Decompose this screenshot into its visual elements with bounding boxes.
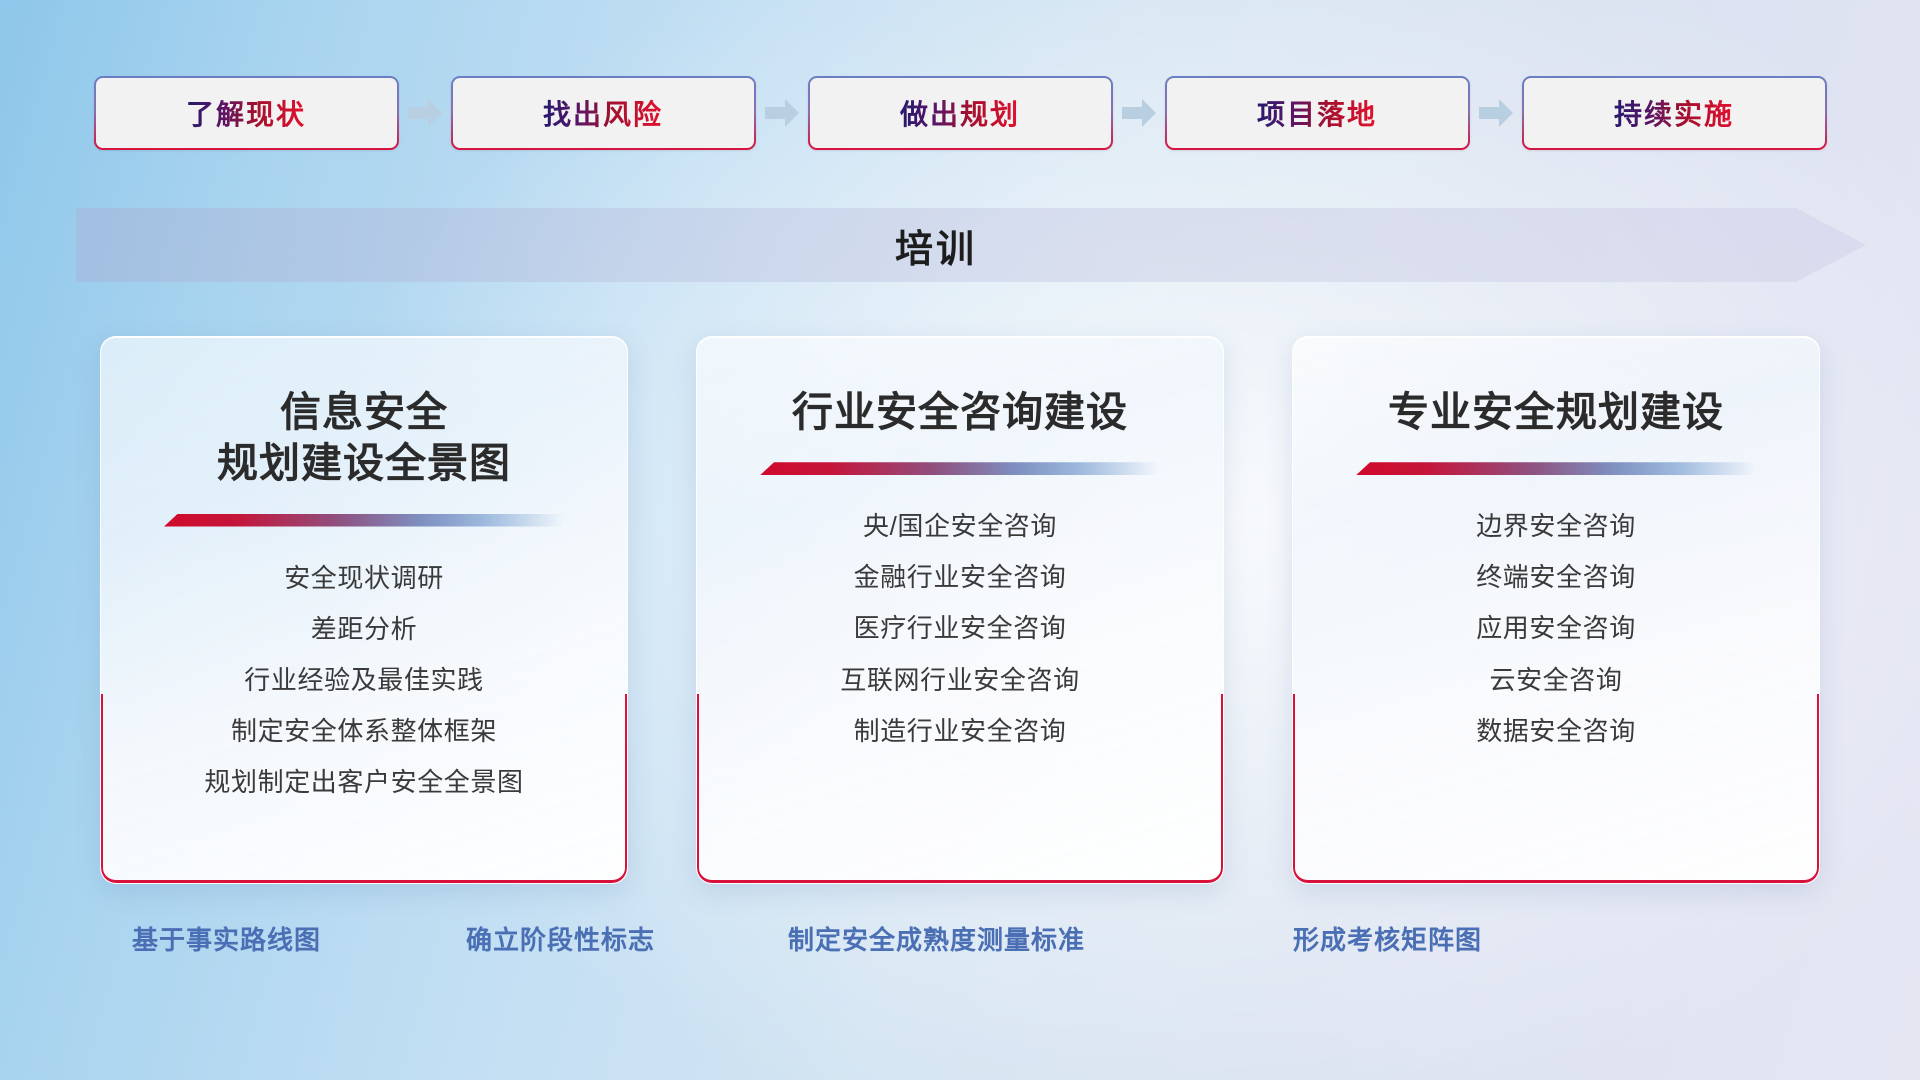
- list-item: 数据安全咨询: [1476, 710, 1636, 752]
- list-item: 终端安全咨询: [1476, 556, 1636, 598]
- list-item: 制定安全体系整体框架: [231, 710, 497, 752]
- list-item: 制造行业安全咨询: [854, 710, 1067, 752]
- process-step-1[interactable]: 找出风险: [451, 76, 756, 150]
- list-item: 边界安全咨询: [1476, 505, 1636, 547]
- service-card-items: 安全现状调研 差距分析 行业经验及最佳实践 制定安全体系整体框架 规划制定出客户…: [101, 557, 627, 804]
- service-card-accent-line: [1356, 462, 1756, 475]
- process-step-label: 了解现状: [186, 93, 306, 133]
- outcome-caption-2: 制定安全成熟度测量标准: [788, 920, 1085, 957]
- arrow-right-icon: [1113, 76, 1165, 150]
- list-item: 央/国企安全咨询: [863, 505, 1057, 547]
- process-step-label: 项目落地: [1257, 93, 1377, 133]
- arrow-right-icon: [399, 76, 451, 150]
- process-step-label: 持续实施: [1614, 93, 1734, 133]
- process-step-label: 找出风险: [543, 93, 663, 133]
- process-step-3[interactable]: 项目落地: [1165, 76, 1470, 150]
- service-card-title-line1: 行业安全咨询建设: [792, 387, 1128, 438]
- service-card-2[interactable]: 专业安全规划建设 边界安全咨询 终端安全咨询 应用安全咨询 云安全咨询 数据安全…: [1292, 336, 1820, 884]
- service-card-items: 央/国企安全咨询 金融行业安全咨询 医疗行业安全咨询 互联网行业安全咨询 制造行…: [697, 505, 1223, 752]
- process-step-inner: 做出规划: [810, 78, 1111, 148]
- outcome-caption-0: 基于事实路线图: [132, 920, 321, 957]
- arrow-right-icon: [1470, 76, 1522, 150]
- arrow-right-icon: [756, 76, 808, 150]
- list-item: 安全现状调研: [284, 557, 444, 599]
- outcome-caption-1: 确立阶段性标志: [466, 920, 655, 957]
- service-card-items: 边界安全咨询 终端安全咨询 应用安全咨询 云安全咨询 数据安全咨询: [1293, 505, 1819, 752]
- process-step-inner: 找出风险: [453, 78, 754, 148]
- list-item: 应用安全咨询: [1476, 607, 1636, 649]
- list-item: 互联网行业安全咨询: [840, 659, 1079, 701]
- service-card-title: 专业安全规划建设: [1366, 387, 1746, 438]
- service-card-accent-line: [164, 514, 564, 527]
- service-card-title: 行业安全咨询建设: [770, 387, 1150, 438]
- process-step-0[interactable]: 了解现状: [94, 76, 399, 150]
- service-card-0[interactable]: 信息安全 规划建设全景图 安全现状调研 差距分析 行业经验及最佳实践 制定安全体…: [100, 336, 628, 884]
- list-item: 差距分析: [311, 608, 417, 650]
- training-banner: 培训: [76, 208, 1866, 282]
- outcome-caption-list: 基于事实路线图 确立阶段性标志 制定安全成熟度测量标准 形成考核矩阵图: [0, 920, 1920, 974]
- process-step-4[interactable]: 持续实施: [1522, 76, 1827, 150]
- list-item: 金融行业安全咨询: [854, 556, 1067, 598]
- service-card-accent-line: [760, 462, 1160, 475]
- outcome-caption-3: 形成考核矩阵图: [1293, 920, 1482, 957]
- service-card-title-line1: 信息安全: [217, 387, 511, 438]
- process-step-flow: 了解现状 找出风险 做出规划 项目落地: [0, 74, 1920, 152]
- list-item: 医疗行业安全咨询: [854, 607, 1067, 649]
- process-step-2[interactable]: 做出规划: [808, 76, 1113, 150]
- list-item: 行业经验及最佳实践: [244, 659, 483, 701]
- list-item: 规划制定出客户安全全景图: [204, 761, 523, 803]
- service-card-1[interactable]: 行业安全咨询建设 央/国企安全咨询 金融行业安全咨询 医疗行业安全咨询 互联网行…: [696, 336, 1224, 884]
- process-step-inner: 项目落地: [1167, 78, 1468, 148]
- training-banner-title: 培训: [76, 208, 1796, 282]
- list-item: 云安全咨询: [1489, 659, 1622, 701]
- process-step-inner: 持续实施: [1524, 78, 1825, 148]
- service-card-title-line1: 专业安全规划建设: [1388, 387, 1724, 438]
- service-card-list: 信息安全 规划建设全景图 安全现状调研 差距分析 行业经验及最佳实践 制定安全体…: [0, 336, 1920, 892]
- process-step-label: 做出规划: [900, 93, 1020, 133]
- process-step-inner: 了解现状: [96, 78, 397, 148]
- service-card-title-line2: 规划建设全景图: [217, 438, 511, 489]
- service-card-title: 信息安全 规划建设全景图: [195, 387, 533, 490]
